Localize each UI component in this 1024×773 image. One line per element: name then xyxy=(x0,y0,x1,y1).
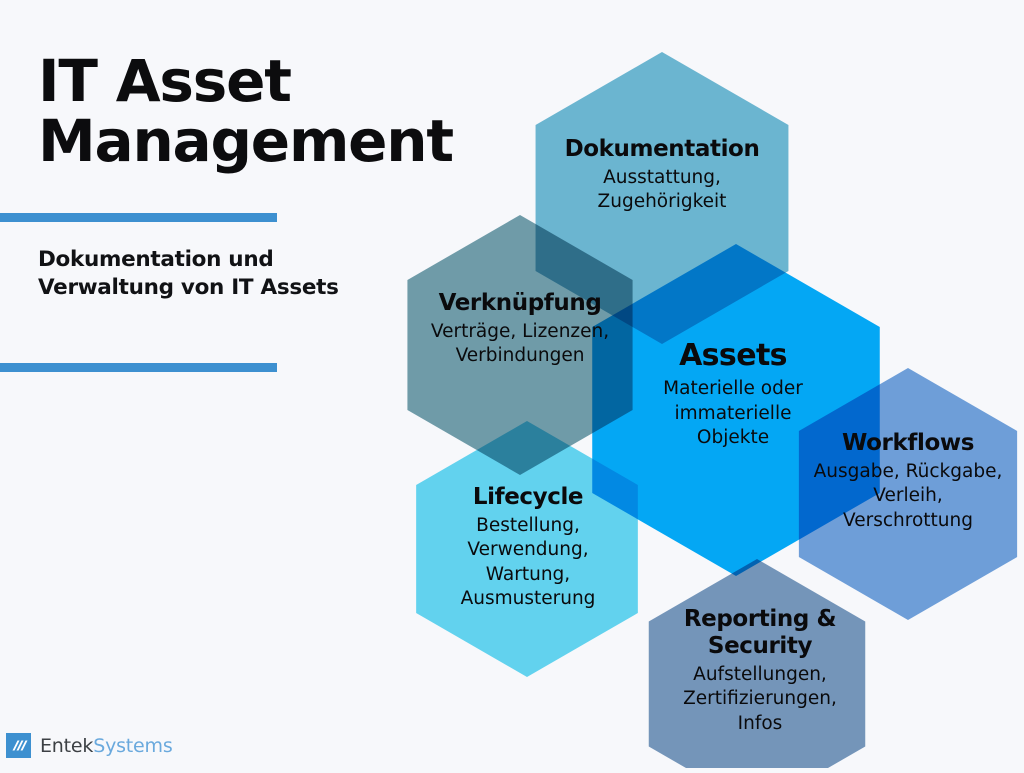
logo-wordmark: EntekSystems xyxy=(40,735,173,757)
hexagon-diagram: Dokumentation Ausstattung, Zugehörigkeit… xyxy=(0,0,1024,768)
hexagon-reporting[interactable] xyxy=(649,559,866,768)
logo-name-primary: Entek xyxy=(40,735,93,757)
hexagon-shapes xyxy=(0,0,1024,768)
stripes-icon xyxy=(6,733,31,758)
slide-canvas: IT Asset Management Dokumentation und Ve… xyxy=(0,0,1024,768)
brand-logo: EntekSystems xyxy=(6,733,173,758)
logo-name-secondary: Systems xyxy=(93,735,172,757)
